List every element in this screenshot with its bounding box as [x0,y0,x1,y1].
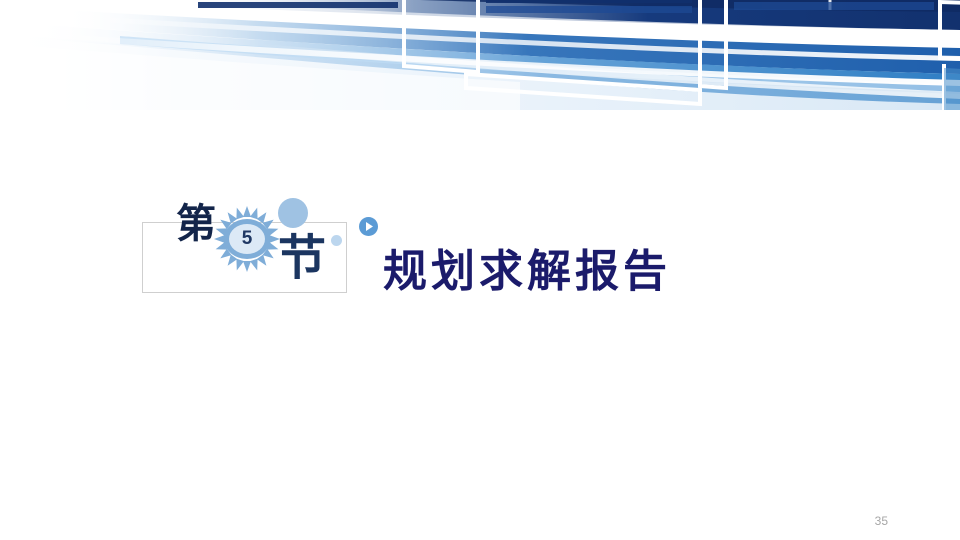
section-number: 5 [213,205,281,273]
play-badge-icon [359,217,378,236]
section-prefix-char: 第 [176,204,216,244]
page-number: 35 [875,514,888,528]
section-suffix-char: 节 [278,234,326,282]
decor-circle-large-icon [278,198,308,228]
slide-canvas: 第 [0,0,960,540]
page-title: 规划求解报告 [383,250,671,294]
decor-circle-small-icon [331,235,342,246]
